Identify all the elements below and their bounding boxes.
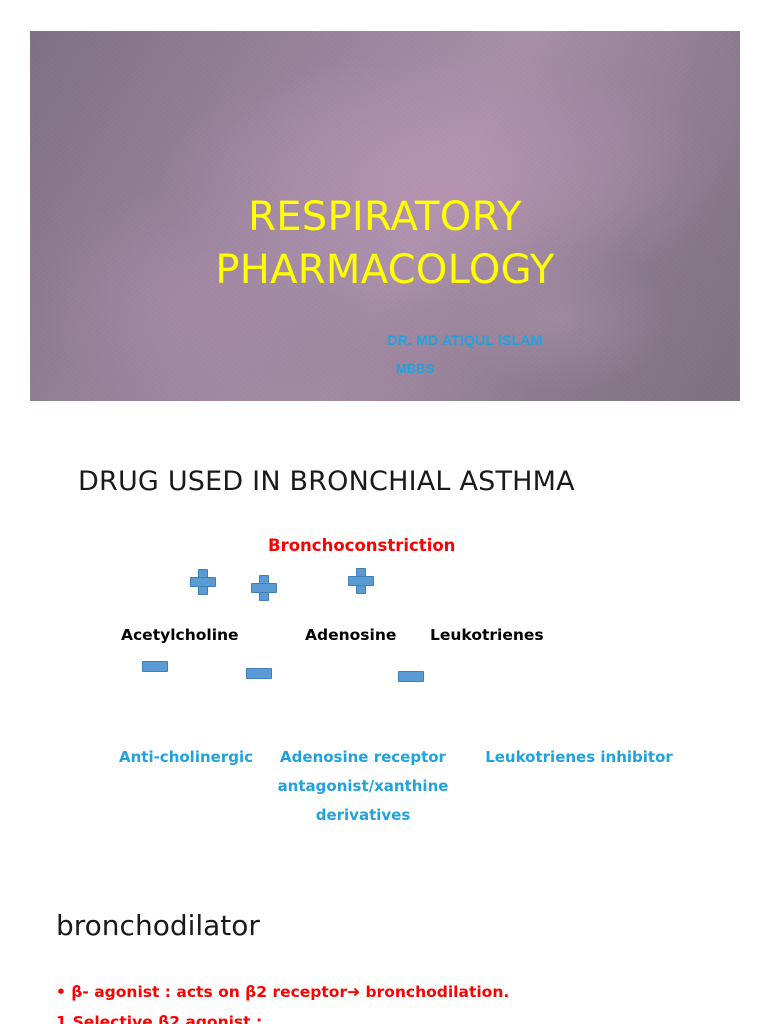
- deck-title-line-1: RESPIRATORY: [30, 191, 740, 244]
- drug-class-adenosine-antagonist: Adenosine receptor antagonist/xanthine d…: [266, 743, 460, 830]
- bronchodilator-slide: bronchodilator • β- agonist : acts on β2…: [0, 880, 768, 1024]
- bronchodilator-bullet-1: • β- agonist : acts on β2 receptor➜ bron…: [56, 983, 509, 1001]
- bronchodilator-heading: bronchodilator: [56, 909, 260, 942]
- deck-title-line-2: PHARMACOLOGY: [30, 244, 740, 297]
- drug-class-leukotriene-inhibitor-line-1: Leukotrienes inhibitor: [485, 748, 673, 766]
- drug-class-adenosine-antagonist-line-3: derivatives: [266, 801, 460, 830]
- minus-icon-anticholinergic: [142, 661, 168, 672]
- drug-class-adenosine-antagonist-line-2: antagonist/xanthine: [266, 772, 460, 801]
- drug-class-adenosine-antagonist-line-1: Adenosine receptor: [266, 743, 460, 772]
- plus-icon-adenosine: [348, 568, 374, 594]
- bronchoconstriction-diagram: Bronchoconstriction Acetylcholine Adenos…: [0, 440, 768, 840]
- node-acetylcholine: Acetylcholine: [121, 626, 239, 644]
- bronchodilator-bullet-2: 1.Selective β2 agonist :: [56, 1013, 262, 1024]
- minus-icon-adenosine-antagonist: [246, 668, 272, 679]
- minus-icon-leukotriene-inhibitor: [398, 671, 424, 682]
- deck-title: RESPIRATORY PHARMACOLOGY: [30, 191, 740, 297]
- node-bronchoconstriction: Bronchoconstriction: [268, 536, 455, 555]
- plus-icon-acetylcholine: [190, 569, 216, 595]
- node-adenosine: Adenosine: [305, 626, 396, 644]
- deck-author-name: DR. MD ATIQUL ISLAM: [30, 332, 740, 348]
- drug-class-leukotriene-inhibitor: Leukotrienes inhibitor: [470, 743, 688, 772]
- asthma-slide: DRUG USED IN BRONCHIAL ASTHMA: [0, 440, 768, 840]
- deck-author-degree: MBBS: [30, 361, 740, 376]
- title-slide-banner: RESPIRATORY PHARMACOLOGY DR. MD ATIQUL I…: [30, 31, 740, 401]
- drug-class-anticholinergic: Anti-cholinergic: [110, 743, 262, 772]
- plus-icon-middle: [251, 575, 277, 601]
- node-leukotrienes: Leukotrienes: [430, 626, 544, 644]
- drug-class-anticholinergic-line-1: Anti-cholinergic: [119, 748, 253, 766]
